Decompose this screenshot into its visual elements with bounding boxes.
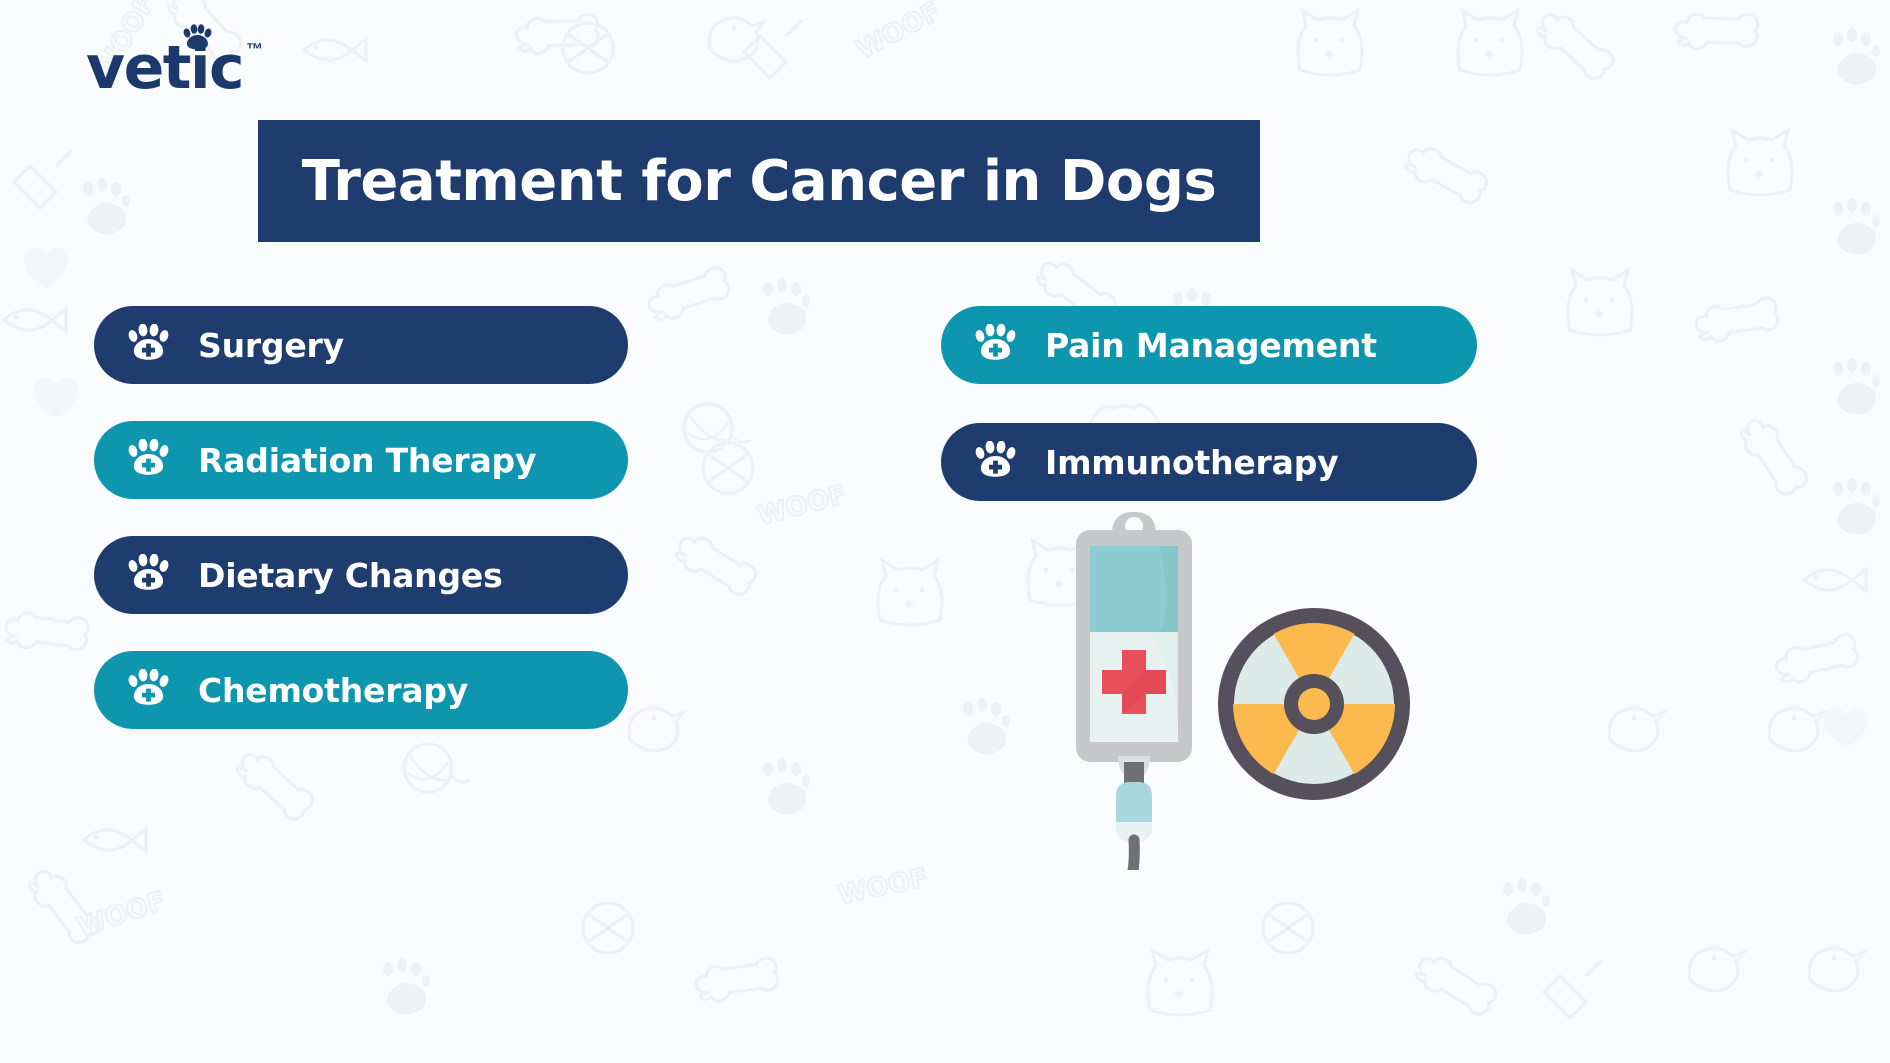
- paw-medical-cross-icon: [973, 441, 1019, 483]
- treatment-pill-pain-management[interactable]: Pain Management: [941, 306, 1477, 384]
- treatment-illustrations-group: [1020, 500, 1450, 870]
- treatment-pill-label: Immunotherapy: [1045, 443, 1338, 482]
- paw-medical-cross-icon: [126, 439, 172, 481]
- treatment-pill-label: Radiation Therapy: [198, 441, 536, 480]
- paw-medical-cross-icon: [126, 324, 172, 366]
- treatment-pill-label: Dietary Changes: [198, 556, 503, 595]
- treatment-pill-dietary-changes[interactable]: Dietary Changes: [94, 536, 628, 614]
- paw-medical-cross-icon: [126, 669, 172, 711]
- logo-wordmark: vetic: [86, 38, 243, 98]
- title-banner: Treatment for Cancer in Dogs: [258, 120, 1260, 242]
- paw-medical-cross-icon: [973, 324, 1019, 366]
- treatment-pill-immunotherapy[interactable]: Immunotherapy: [941, 423, 1477, 501]
- treatment-pill-surgery[interactable]: Surgery: [94, 306, 628, 384]
- logo-trademark-symbol: ™: [246, 40, 263, 60]
- logo-paw-print-icon: [182, 24, 212, 50]
- treatment-pill-label: Surgery: [198, 326, 344, 365]
- treatment-pill-radiation-therapy[interactable]: Radiation Therapy: [94, 421, 628, 499]
- vetic-logo[interactable]: vetic ™: [86, 38, 263, 98]
- iv-drip-bag-illustration: [1076, 512, 1192, 870]
- treatment-pill-chemotherapy[interactable]: Chemotherapy: [94, 651, 628, 729]
- treatment-pill-label: Chemotherapy: [198, 671, 468, 710]
- paw-medical-cross-icon: [126, 554, 172, 596]
- radiation-symbol-illustration: [1218, 608, 1410, 800]
- infographic-canvas: WOOF: [0, 0, 1890, 1063]
- page-title: Treatment for Cancer in Dogs: [302, 149, 1217, 214]
- treatment-pill-label: Pain Management: [1045, 326, 1377, 365]
